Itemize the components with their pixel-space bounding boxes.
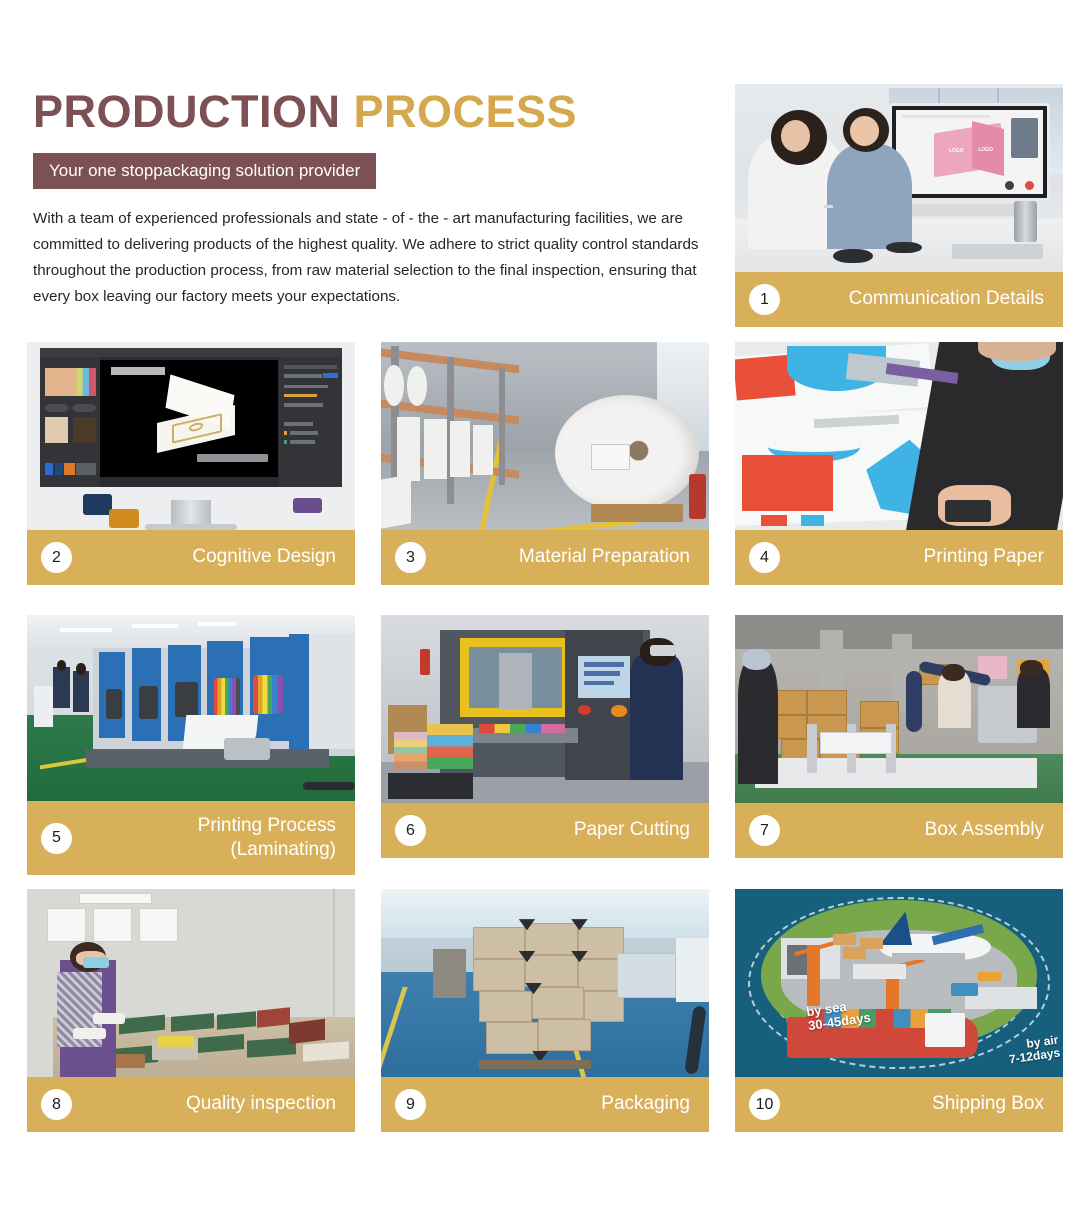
process-card-2-image xyxy=(27,342,355,530)
header-block: PRODUCTION PROCESS Your one stoppackagin… xyxy=(33,88,703,310)
process-card-10[interactable]: by sea 30-45days by air 7-12days 10 Ship… xyxy=(735,889,1063,1132)
process-card-3-image xyxy=(381,342,709,530)
process-card-8[interactable]: 8 Quality inspection xyxy=(27,889,355,1132)
process-card-3-bar: 3 Material Preparation xyxy=(381,530,709,585)
process-card-2-bar: 2 Cognitive Design xyxy=(27,530,355,585)
process-card-7-bar: 7 Box Assembly xyxy=(735,803,1063,858)
process-card-8-label: Quality inspection xyxy=(72,1092,339,1116)
process-card-1[interactable]: LOGO LOGO xyxy=(735,84,1063,327)
process-card-7-image xyxy=(735,615,1063,803)
process-card-3-badge: 3 xyxy=(395,542,426,573)
process-card-2-label: Cognitive Design xyxy=(72,545,339,569)
process-card-8-image xyxy=(27,889,355,1077)
process-card-4[interactable]: 4 Printing Paper xyxy=(735,342,1063,585)
process-card-5-image xyxy=(27,615,355,801)
process-card-8-bar: 8 Quality inspection xyxy=(27,1077,355,1132)
process-card-5-badge: 5 xyxy=(41,823,72,854)
process-card-6-badge: 6 xyxy=(395,815,426,846)
process-card-6-label: Paper Cutting xyxy=(426,818,693,842)
process-card-7[interactable]: 7 Box Assembly xyxy=(735,615,1063,858)
process-card-9-label: Packaging xyxy=(426,1092,693,1116)
process-card-7-label: Box Assembly xyxy=(780,818,1047,842)
process-card-4-label: Printing Paper xyxy=(780,545,1047,569)
process-card-10-bar: 10 Shipping Box xyxy=(735,1077,1063,1132)
process-card-10-badge: 10 xyxy=(749,1089,780,1120)
process-card-5[interactable]: 5 Printing Process (Laminating) xyxy=(27,615,355,875)
production-process-page: PRODUCTION PROCESS Your one stoppackagin… xyxy=(0,0,1077,1218)
process-card-6-bar: 6 Paper Cutting xyxy=(381,803,709,858)
process-card-1-label: Communication Details xyxy=(780,287,1047,311)
process-card-1-bar: 1 Communication Details xyxy=(735,272,1063,327)
process-card-9-image xyxy=(381,889,709,1077)
process-card-9[interactable]: 9 Packaging xyxy=(381,889,709,1132)
process-card-10-image: by sea 30-45days by air 7-12days xyxy=(735,889,1063,1077)
process-card-2-badge: 2 xyxy=(41,542,72,573)
process-card-5-bar: 5 Printing Process (Laminating) xyxy=(27,801,355,875)
process-card-3-label: Material Preparation xyxy=(426,545,693,569)
process-card-4-badge: 4 xyxy=(749,542,780,573)
process-card-1-badge: 1 xyxy=(749,284,780,315)
process-card-1-image: LOGO LOGO xyxy=(735,84,1063,272)
intro-paragraph: With a team of experienced professionals… xyxy=(33,206,701,311)
process-card-4-image xyxy=(735,342,1063,530)
process-card-6[interactable]: 6 Paper Cutting xyxy=(381,615,709,858)
process-card-5-label: Printing Process (Laminating) xyxy=(72,814,339,863)
process-card-10-label: Shipping Box xyxy=(780,1092,1047,1116)
process-card-7-badge: 7 xyxy=(749,815,780,846)
process-card-9-bar: 9 Packaging xyxy=(381,1077,709,1132)
page-title: PRODUCTION PROCESS xyxy=(33,88,703,137)
page-title-part-2: PROCESS xyxy=(354,86,578,137)
subtitle-banner: Your one stoppackaging solution provider xyxy=(33,153,376,189)
process-card-3[interactable]: 3 Material Preparation xyxy=(381,342,709,585)
page-title-part-1: PRODUCTION xyxy=(33,86,354,137)
process-card-4-bar: 4 Printing Paper xyxy=(735,530,1063,585)
process-card-9-badge: 9 xyxy=(395,1089,426,1120)
process-card-6-image xyxy=(381,615,709,803)
process-card-8-badge: 8 xyxy=(41,1089,72,1120)
process-card-2[interactable]: 2 Cognitive Design xyxy=(27,342,355,585)
